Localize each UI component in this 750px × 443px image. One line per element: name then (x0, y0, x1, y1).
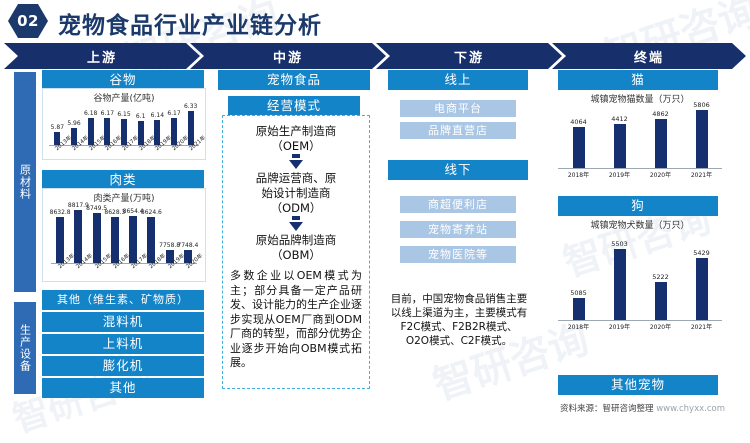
business-model-flow-box: 原始生产制造商 （OEM） 品牌运营商、原 始设计制造商 （ODM） 原始品牌制… (222, 115, 370, 389)
equipment-item-mixer: 混料机 (42, 312, 204, 332)
bar-label-urban-pet-cat-count-1: 4412 (611, 115, 628, 123)
downstream-offline-header: 线下 (388, 160, 528, 180)
flow-step-obm-line2: （OBM） (227, 248, 365, 263)
source-text: 资料来源：智研咨询整理 (560, 404, 654, 414)
source-url: www.chyxx.com (656, 404, 725, 414)
bar-urban-pet-cat-count-3 (696, 110, 708, 168)
bar-urban-pet-cat-count-0 (573, 127, 585, 168)
downstream-online-header: 线上 (388, 70, 528, 90)
bar-label-grain-output-1: 5.96 (67, 120, 80, 127)
xtick-urban-pet-cat-count-1: 2019年 (609, 170, 630, 179)
chart-dog-plot: 5085550352225429 (558, 232, 722, 321)
equipment-item-extruder: 膨化机 (42, 356, 204, 376)
equipment-item-feeder: 上料机 (42, 334, 204, 354)
offline-item-hospital: 宠物医院等 (400, 246, 516, 263)
upstream-meat-header: 肉类 (42, 170, 204, 190)
xtick-urban-pet-cat-count-0: 2018年 (568, 170, 589, 179)
bar-label-grain-output-5: 6.1 (136, 113, 146, 120)
bar-label-grain-output-4: 6.15 (117, 111, 130, 118)
chevron-terminal: 终端 (552, 43, 746, 69)
offline-item-boarding: 宠物寄养站 (400, 221, 516, 238)
xtick-urban-pet-dog-count-0: 2018年 (568, 322, 589, 331)
bar-meat-output-1 (74, 210, 82, 263)
chart-cat-plot: 4064441248625806 (558, 106, 722, 169)
bar-label-meat-output-7: 7748.4 (177, 242, 198, 249)
terminal-cat-header: 猫 (558, 70, 718, 90)
bar-label-grain-output-8: 6.33 (184, 103, 197, 110)
bar-label-grain-output-3: 6.17 (101, 110, 114, 117)
midstream-header: 宠物食品 (218, 70, 370, 90)
bar-label-urban-pet-dog-count-0: 5085 (570, 289, 587, 297)
bar-meat-output-0 (56, 217, 64, 263)
bar-label-urban-pet-dog-count-3: 5429 (693, 249, 710, 257)
bar-urban-pet-cat-count-1 (614, 124, 626, 168)
bar-label-meat-output-5: 8624.6 (141, 209, 162, 216)
bar-urban-pet-dog-count-0 (573, 298, 585, 320)
bar-label-grain-output-0: 5.87 (51, 124, 64, 131)
grain-chart-card: 谷物产量(亿吨) 5.872013年5.962014年6.182015年6.17… (42, 88, 206, 160)
flow-step-odm-line2: 始设计制造商 (227, 186, 365, 201)
bar-label-grain-output-2: 6.18 (84, 110, 97, 117)
equipment-item-other: 其他 (42, 378, 204, 398)
flow-step-oem-line1: 原始生产制造商 (227, 124, 365, 139)
page-title: 宠物食品行业产业链分析 (58, 6, 322, 40)
downstream-note: 目前，中国宠物食品销售主要以线上渠道为主，主要模式有F2C模式、F2B2R模式、… (390, 292, 528, 348)
xtick-urban-pet-cat-count-3: 2021年 (691, 170, 712, 179)
bar-label-urban-pet-dog-count-1: 5503 (611, 240, 628, 248)
bar-urban-pet-dog-count-2 (655, 282, 667, 320)
xtick-urban-pet-dog-count-1: 2019年 (609, 322, 630, 331)
bar-label-grain-output-7: 6.17 (167, 110, 180, 117)
terminal-dog-header: 狗 (558, 196, 718, 216)
terminal-other-header: 其他宠物 (558, 375, 718, 395)
flow-step-obm-line1: 原始品牌制造商 (227, 233, 365, 248)
chevron-midstream: 中游 (190, 43, 386, 69)
flow-step-odm-line1: 品牌运营商、原 (227, 171, 365, 186)
flow-step-odm-line3: （ODM） (227, 201, 365, 216)
chart-grain-plot: 5.872013年5.962014年6.182015年6.172016年6.15… (49, 105, 199, 146)
flow-step-odm: 品牌运营商、原 始设计制造商 （ODM） (227, 171, 365, 216)
chart-meat-plot: 8632.82013年8817.92014年8749.52015年8628.32… (51, 205, 197, 264)
bar-label-urban-pet-cat-count-0: 4064 (570, 118, 587, 126)
bar-label-urban-pet-dog-count-2: 5222 (652, 273, 669, 281)
chart-cat-title: 城镇宠物猫数量（万只） (540, 92, 740, 105)
meat-chart-card: 肉类产量(万吨) 8632.82013年8817.92014年8749.5201… (42, 188, 206, 282)
offline-item-supermarket: 商超便利店 (400, 196, 516, 213)
chart-dog-count: 城镇宠物犬数量（万只） 5085550352225429 2018年2019年2… (540, 218, 740, 333)
chart-grain-title: 谷物产量(亿吨) (43, 91, 205, 104)
bar-urban-pet-dog-count-3 (696, 258, 708, 320)
source-note: 资料来源：智研咨询整理 www.chyxx.com (560, 402, 725, 414)
flow-step-oem-line2: （OEM） (227, 139, 365, 154)
midstream-subheader: 经营模式 (228, 96, 360, 116)
bar-urban-pet-dog-count-1 (614, 249, 626, 320)
bar-label-urban-pet-cat-count-2: 4862 (652, 110, 669, 118)
bar-meat-output-5 (147, 217, 155, 263)
bar-meat-output-4 (129, 216, 137, 263)
category-raw-materials: 原材料 (14, 72, 36, 292)
midstream-note: 多数企业以OEM模式为主；部分具备一定产品研发、设计能力的生产企业逐步实现从OE… (227, 269, 365, 371)
bar-label-urban-pet-cat-count-3: 5806 (693, 101, 710, 109)
upstream-grain-header: 谷物 (42, 70, 204, 90)
bar-meat-output-2 (93, 213, 101, 263)
xtick-urban-pet-dog-count-2: 2020年 (650, 322, 671, 331)
upstream-other-header: 其他（维生素、矿物质） (42, 290, 204, 310)
bar-label-meat-output-0: 8632.8 (50, 209, 71, 216)
xtick-urban-pet-dog-count-3: 2021年 (691, 322, 712, 331)
bar-urban-pet-cat-count-2 (655, 119, 667, 168)
chart-dog-title: 城镇宠物犬数量（万只） (540, 218, 740, 231)
online-item-brand-store: 品牌直营店 (400, 122, 516, 139)
chart-grain-output: 谷物产量(亿吨) 5.872013年5.962014年6.182015年6.17… (43, 91, 205, 146)
chart-meat-output: 肉类产量(万吨) 8632.82013年8817.92014年8749.5201… (43, 191, 205, 264)
chevron-downstream: 下游 (376, 43, 562, 69)
chart-cat-xaxis: 2018年2019年2020年2021年 (558, 169, 722, 181)
bar-meat-output-3 (111, 217, 119, 263)
value-chain-chevron-band: 上游 中游 下游 终端 (4, 43, 746, 69)
bar-label-grain-output-6: 6.14 (151, 112, 164, 119)
category-production-equipment: 生产设备 (14, 302, 36, 394)
arrow-down-icon-2 (227, 216, 365, 231)
online-item-ecommerce: 电商平台 (400, 100, 516, 117)
chart-cat-count: 城镇宠物猫数量（万只） 4064441248625806 2018年2019年2… (540, 92, 740, 181)
chart-dog-xaxis: 2018年2019年2020年2021年 (558, 321, 722, 333)
flow-step-obm: 原始品牌制造商 （OBM） (227, 233, 365, 263)
page-header: 02 宠物食品行业产业链分析 (0, 0, 750, 42)
xtick-urban-pet-cat-count-2: 2020年 (650, 170, 671, 179)
chevron-upstream: 上游 (4, 43, 200, 69)
arrow-down-icon-1 (227, 154, 365, 169)
section-number-badge: 02 (8, 4, 48, 38)
flow-step-oem: 原始生产制造商 （OEM） (227, 124, 365, 154)
